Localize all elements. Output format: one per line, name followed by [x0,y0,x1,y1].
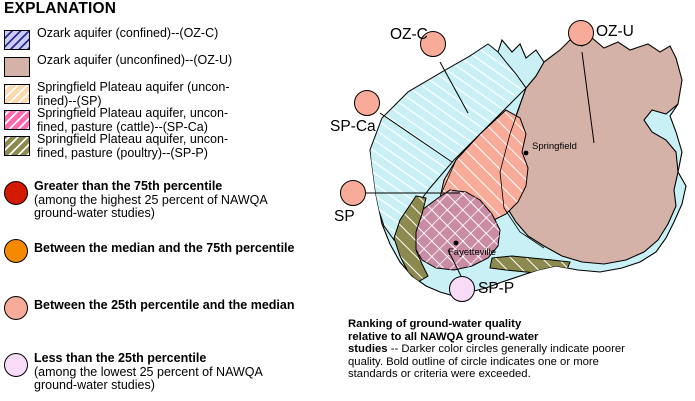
legend-swatch-springfield-plateau [4,84,30,104]
legend-circle-25-median [4,296,28,320]
legend-text-25-median: Between the 25th percentile and the medi… [34,299,324,313]
legend-label-spca-line1: Springfield Plateau aquifer, uncon- [37,107,287,121]
marker-circle-sp[interactable] [340,180,366,206]
legend-label-spp-line1: Springfield Plateau aquifer, uncon- [37,133,287,147]
legend-swatch-sp-cattle [4,110,30,130]
city-label-springfield: Springfield [532,141,577,152]
map-caption-bold1: Ranking of ground-water quality [348,318,521,330]
legend-circle-median-75 [4,239,28,263]
legend-label-springfield-plateau: Springfield Plateau aquifer (uncon- fine… [37,81,287,108]
map-caption: Ranking of ground-water quality relative… [348,318,640,381]
map-regions [370,38,686,296]
legend-label-spp-line2: fined, pasture (poultry)--(SP-P) [37,147,287,161]
legend-circle-less-25 [4,353,28,377]
legend-rank-title-gt75: Greater than the 75th percentile [34,180,324,194]
city-dot-springfield [524,151,529,156]
legend-label-ozark-confined: Ozark aquifer (confined)--(OZ-C) [37,27,287,41]
legend-rank-sub1-lt25: (among the lowest 25 percent of NAWQA [34,366,324,380]
marker-label-oz-c: OZ-C [390,26,428,44]
study-area-map: Springfield Fayetteville OZ-C OZ-U SP-Ca… [330,0,695,401]
legend-rank-title-lt25: Less than the 25th percentile [34,352,324,366]
map-caption-rest: -- Darker color circles generally indica… [348,343,625,380]
legend-rank-sub2-gt75: ground-water studies) [34,207,324,221]
legend-swatch-ozark-confined [4,30,30,50]
marker-circle-sp-ca[interactable] [354,90,380,116]
legend-label-sp-line1: Springfield Plateau aquifer (uncon- [37,81,287,95]
legend-swatch-ozark-unconfined [4,57,30,77]
explanation-title: EXPLANATION [4,0,116,18]
marker-label-sp-p: SP-P [478,280,514,298]
city-dot-fayetteville [454,241,459,246]
marker-label-sp-ca: SP-Ca [330,118,376,136]
legend-label-ozark-unconfined: Ozark aquifer (unconfined)--(OZ-U) [37,54,287,68]
legend-rank-sub1-gt75: (among the highest 25 percent of NAWQA [34,194,324,208]
legend-swatch-sp-poultry [4,136,30,156]
marker-label-sp: SP [334,208,355,226]
city-label-fayetteville: Fayetteville [448,247,496,258]
figure-root: EXPLANATION Ozark aquifer (confined)--(O… [0,0,695,401]
legend-text-greater-75: Greater than the 75th percentile (among … [34,180,324,221]
legend-rank-title-med75: Between the median and the 75th percenti… [34,242,324,256]
legend-rank-sub2-lt25: ground-water studies) [34,379,324,393]
legend-circle-greater-75 [4,181,28,205]
legend-label-sp-poultry: Springfield Plateau aquifer, uncon- fine… [37,133,287,160]
map-caption-bold2: relative to all NAWQA ground-water [348,331,538,343]
legend-text-median-75: Between the median and the 75th percenti… [34,242,324,256]
explanation-panel: EXPLANATION Ozark aquifer (confined)--(O… [0,0,330,401]
legend-text-less-25: Less than the 25th percentile (among the… [34,352,324,393]
legend-rank-title-p25med: Between the 25th percentile and the medi… [34,299,324,313]
marker-label-oz-u: OZ-U [596,23,634,41]
map-caption-bold3: studies [348,343,388,355]
marker-circle-sp-p[interactable] [449,276,475,302]
legend-label-sp-cattle: Springfield Plateau aquifer, uncon- fine… [37,107,287,134]
marker-circle-oz-u[interactable] [568,20,594,46]
